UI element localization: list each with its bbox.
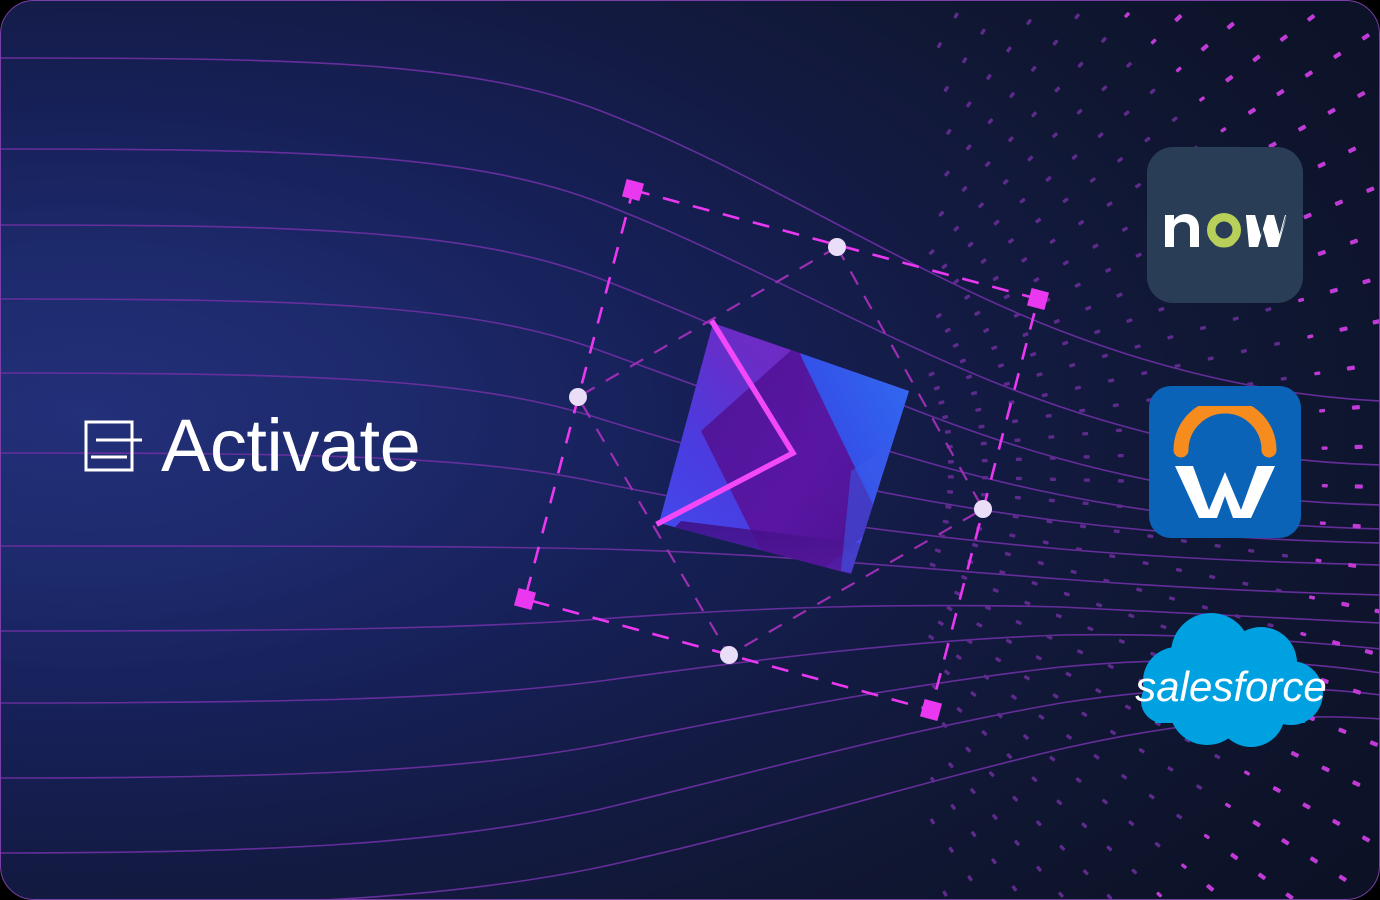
salesforce-wordmark: salesforce [1135, 663, 1326, 710]
page-title: Activate [161, 409, 420, 483]
partner-logo-workday[interactable] [1149, 386, 1301, 538]
brand-lockup: Activate [83, 409, 420, 483]
hero-card: Activate [0, 0, 1380, 900]
activate-square-lines-icon [83, 415, 145, 477]
partner-logo-salesforce[interactable]: salesforce [1133, 609, 1329, 759]
partner-logo-servicenow[interactable] [1147, 147, 1303, 303]
workday-w-logo-icon [1171, 406, 1279, 518]
servicenow-now-logo-icon [1163, 199, 1287, 251]
salesforce-cloud-logo-icon: salesforce [1133, 609, 1329, 759]
